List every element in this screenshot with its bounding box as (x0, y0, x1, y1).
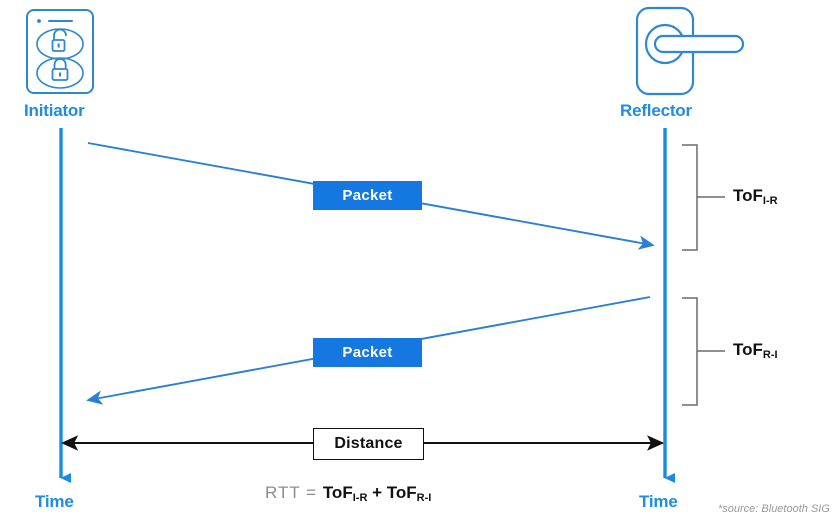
tof-i-r-label: ToFI-R (733, 186, 778, 206)
door-lock-handle-icon (637, 8, 743, 94)
smartphone-lock-icon (27, 10, 93, 93)
rtt-equation: RTT = ToFI-R + ToFR-I (265, 483, 431, 503)
tof-r-i-label: ToFR-I (733, 340, 778, 360)
tof-r-i-text: ToF (733, 340, 763, 359)
initiator-time-label: Time (35, 492, 74, 512)
rtt-equation-term2-subscript: R-I (417, 492, 432, 504)
tof-r-i-bracket (682, 298, 725, 405)
tof-r-i-subscript: R-I (763, 349, 778, 361)
rtt-equation-term1-subscript: I-R (353, 492, 368, 504)
source-note: *source: Bluetooth SIG (718, 503, 830, 515)
diagram-canvas: Initiator Reflector Packet Packet ToFI-R… (0, 0, 840, 526)
rtt-equation-lhs: RTT = (265, 483, 323, 502)
rtt-equation-term2: ToF (387, 483, 417, 502)
reflector-time-label: Time (639, 492, 678, 512)
tof-i-r-bracket (682, 145, 725, 250)
tof-i-r-text: ToF (733, 186, 763, 205)
rtt-equation-term1: ToF (323, 483, 353, 502)
distance-label-box[interactable]: Distance (313, 428, 424, 460)
packet-box-reflector-to-initiator[interactable]: Packet (313, 338, 422, 367)
rtt-equation-operator: + (367, 483, 386, 502)
tof-i-r-subscript: I-R (763, 195, 778, 207)
initiator-label: Initiator (24, 101, 85, 121)
reflector-label: Reflector (620, 101, 692, 121)
packet-box-initiator-to-reflector[interactable]: Packet (313, 181, 422, 210)
